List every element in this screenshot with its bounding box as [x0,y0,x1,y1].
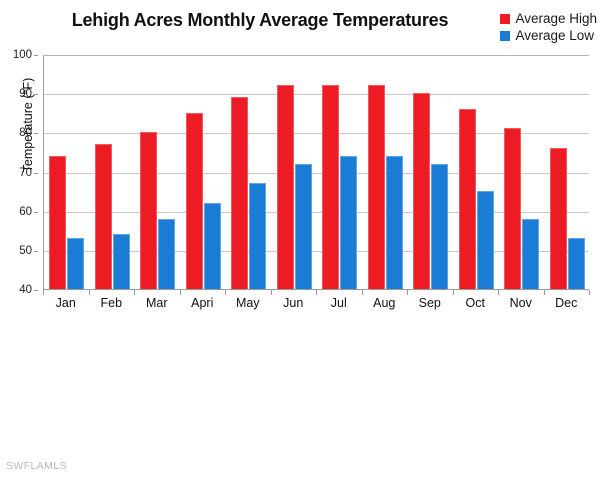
x-tick-label-aug: Aug [373,296,395,310]
bar-groups [44,55,589,289]
y-tick-label-70: 70 [19,167,32,179]
bar-mar-average-low[interactable] [158,219,175,290]
bar-group [317,55,363,289]
chart-title: Lehigh Acres Monthly Average Temperature… [40,10,480,31]
bar-group [363,55,409,289]
legend-item-average-high: Average High [500,10,597,27]
x-tick-mark [589,290,590,295]
y-tick-mark-70 [34,173,38,174]
bar-jun-average-high[interactable] [277,85,294,289]
bar-feb-average-low[interactable] [113,234,130,289]
bar-mar-average-high[interactable] [140,132,157,289]
y-tick-mark-100 [34,55,38,56]
watermark-label: SWFLAMLS [6,460,67,472]
y-tick-mark-50 [34,251,38,252]
bar-group [408,55,454,289]
bar-nov-average-low[interactable] [522,219,539,290]
bar-jul-average-high[interactable] [322,85,339,289]
x-tick-mark [89,290,90,295]
chart-figure: Lehigh Acres Monthly Average Temperature… [0,0,603,480]
y-tick-label-100: 100 [13,49,32,61]
bar-sep-average-low[interactable] [431,164,448,289]
bar-apri-average-low[interactable] [204,203,221,289]
x-tick-label-jul: Jul [331,296,347,310]
x-tick-label-nov: Nov [510,296,532,310]
bar-nov-average-high[interactable] [504,128,521,289]
bar-group [272,55,318,289]
bar-may-average-low[interactable] [249,183,266,289]
x-tick-mark [271,290,272,295]
x-tick-label-feb: Feb [100,296,122,310]
x-tick-mark [453,290,454,295]
x-tick-label-may: May [236,296,260,310]
legend-swatch-icon-average-low [500,31,510,41]
y-tick-label-80: 80 [19,127,32,139]
bar-oct-average-low[interactable] [477,191,494,289]
bar-group [44,55,90,289]
x-tick-mark [407,290,408,295]
bar-aug-average-high[interactable] [368,85,385,289]
x-axis-tick-labels: JanFebMarApriMayJunJulAugSepOctNovDec [43,296,589,316]
y-tick-label-60: 60 [19,206,32,218]
bar-jul-average-low[interactable] [340,156,357,289]
y-tick-mark-60 [34,212,38,213]
x-tick-mark [544,290,545,295]
chart-legend: Average High Average Low [500,10,597,44]
x-tick-mark [316,290,317,295]
x-tick-label-jan: Jan [56,296,76,310]
y-tick-label-90: 90 [19,88,32,100]
bar-apri-average-high[interactable] [186,113,203,289]
x-tick-mark [134,290,135,295]
bar-dec-average-high[interactable] [550,148,567,289]
bar-group [135,55,181,289]
y-tick-label-50: 50 [19,245,32,257]
x-tick-label-jun: Jun [283,296,303,310]
y-axis-tick-labels: 405060708090100 [0,55,38,290]
bar-dec-average-low[interactable] [568,238,585,289]
bar-jan-average-high[interactable] [49,156,66,289]
bar-sep-average-high[interactable] [413,93,430,289]
x-tick-label-mar: Mar [146,296,168,310]
y-tick-mark-80 [34,133,38,134]
bar-group [181,55,227,289]
x-tick-label-dec: Dec [555,296,577,310]
bar-jan-average-low[interactable] [67,238,84,289]
bar-oct-average-high[interactable] [459,109,476,289]
legend-item-average-low: Average Low [500,27,597,44]
x-tick-mark [225,290,226,295]
bar-may-average-high[interactable] [231,97,248,289]
x-tick-label-apri: Apri [191,296,213,310]
x-tick-label-sep: Sep [419,296,441,310]
plot-area [43,55,589,290]
y-tick-mark-40 [34,290,38,291]
y-tick-label-40: 40 [19,284,32,296]
legend-label-average-high: Average High [515,11,597,27]
bar-group [90,55,136,289]
legend-label-average-low: Average Low [515,28,594,44]
bar-aug-average-low[interactable] [386,156,403,289]
x-tick-mark [362,290,363,295]
x-tick-label-oct: Oct [466,296,485,310]
bar-group [499,55,545,289]
x-tick-mark [43,290,44,295]
x-tick-mark [498,290,499,295]
bar-group [545,55,591,289]
bar-jun-average-low[interactable] [295,164,312,289]
bar-group [454,55,500,289]
bar-feb-average-high[interactable] [95,144,112,289]
legend-swatch-icon-average-high [500,14,510,24]
y-tick-mark-90 [34,94,38,95]
x-tick-mark [180,290,181,295]
bar-group [226,55,272,289]
